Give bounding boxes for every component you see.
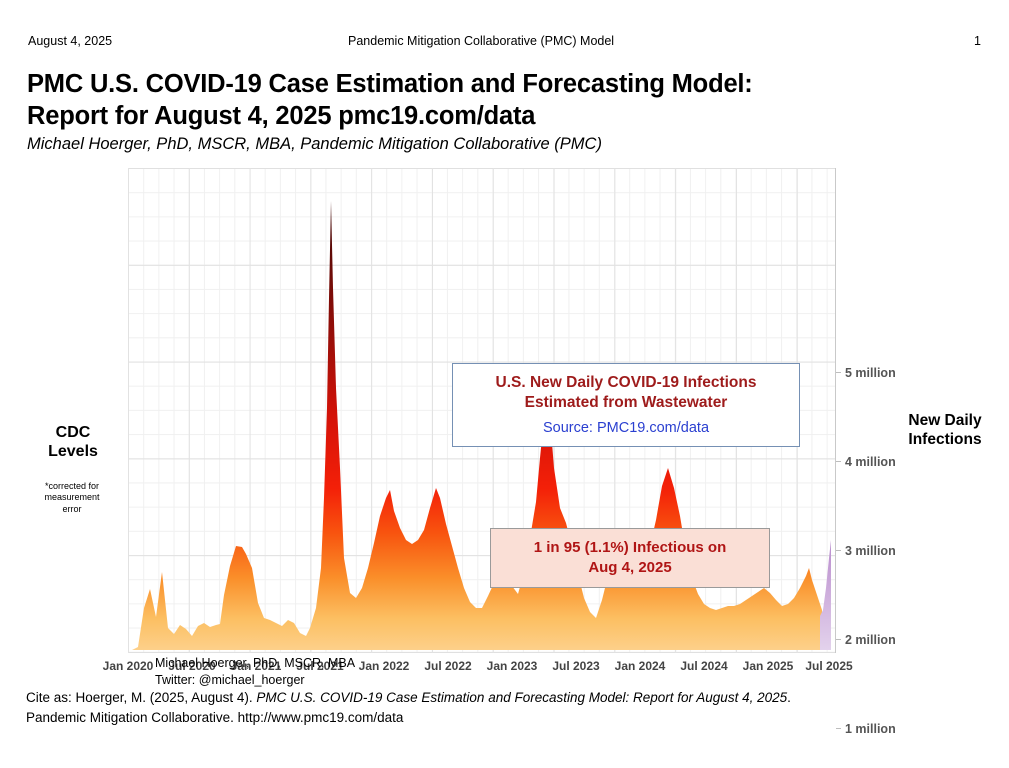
y-axis-left-note-line-2: measurement [44, 492, 99, 502]
chart-source-link[interactable]: Source: PMC19.com/data [459, 420, 793, 436]
y-axis-left-title: CDC Levels [24, 424, 122, 462]
y-tick-mark [836, 728, 841, 729]
header-title: Pandemic Mitigation Collaborative (PMC) … [348, 34, 614, 48]
y-axis-left-title-line-1: CDC [56, 424, 91, 441]
y-tick-mark [836, 639, 841, 640]
x-axis-tick-9: Jan 2024 [615, 659, 666, 673]
chart-figure: 35.6 28.5 21.4 14.2 7.1 5 million 4 mill… [0, 168, 1009, 680]
header-page-number: 1 [974, 34, 981, 48]
citation-block: Cite as: Hoerger, M. (2025, August 4). P… [26, 688, 986, 727]
chart-title-text: U.S. New Daily COVID-19 Infections Estim… [459, 373, 793, 413]
header-date: August 4, 2025 [28, 34, 112, 48]
infectious-stat-callout: 1 in 95 (1.1%) Infectious on Aug 4, 2025 [490, 528, 770, 588]
y-axis-right-tick-5: 5 million [845, 366, 896, 380]
citation-work-title: PMC U.S. COVID-19 Case Estimation and Fo… [256, 690, 787, 705]
y-axis-right-tick-4: 4 million [845, 455, 896, 469]
y-tick-mark [836, 550, 841, 551]
y-axis-left-note-line-1: *corrected for [45, 481, 99, 491]
chart-title-callout: U.S. New Daily COVID-19 Infections Estim… [452, 363, 800, 447]
chart-author-name: Michael Hoerger, PhD, MSCR, MBA [155, 656, 355, 670]
infectious-stat-line-1: 1 in 95 (1.1%) Infectious on [534, 539, 727, 556]
y-axis-left-title-line-2: Levels [48, 443, 98, 460]
x-axis-tick-12: Jul 2025 [805, 659, 852, 673]
chart-title-line-2: Estimated from Wastewater [525, 394, 728, 411]
forecast-area-path [820, 540, 831, 650]
y-axis-right-title-line-1: New Daily [908, 412, 981, 429]
y-tick-mark [836, 461, 841, 462]
page-title-line-2: Report for August 4, 2025 pmc19.com/data [27, 102, 535, 130]
citation-prefix: Cite as: Hoerger, M. (2025, August 4). [26, 690, 256, 705]
y-axis-left-note-line-3: error [62, 504, 81, 514]
chart-author-twitter: Twitter: @michael_hoerger [155, 673, 305, 687]
title-block: PMC U.S. COVID-19 Case Estimation and Fo… [27, 68, 977, 154]
y-axis-right-title: New Daily Infections [890, 412, 1000, 449]
document-header: August 4, 2025 Pandemic Mitigation Colla… [28, 34, 981, 52]
x-axis-tick-8: Jul 2023 [552, 659, 599, 673]
x-axis-tick-1: Jan 2020 [103, 659, 154, 673]
y-axis-left-note: *corrected for measurement error [22, 481, 122, 515]
y-axis-right-tick-2: 2 million [845, 633, 896, 647]
y-axis-right-title-line-2: Infections [908, 431, 981, 448]
y-tick-mark [836, 372, 841, 373]
chart-title-line-1: U.S. New Daily COVID-19 Infections [496, 374, 757, 391]
y-axis-right-tick-3: 3 million [845, 544, 896, 558]
x-axis-tick-7: Jan 2023 [487, 659, 538, 673]
chart-author-credit: Michael Hoerger, PhD, MSCR, MBA Twitter:… [155, 655, 355, 689]
x-axis-tick-11: Jan 2025 [743, 659, 794, 673]
x-axis-tick-10: Jul 2024 [680, 659, 727, 673]
infectious-stat-line-2: Aug 4, 2025 [588, 559, 671, 576]
page-subtitle: Michael Hoerger, PhD, MSCR, MBA, Pandemi… [27, 135, 977, 154]
x-axis-tick-5: Jan 2022 [359, 659, 410, 673]
citation-suffix: . [787, 690, 791, 705]
x-axis-tick-6: Jul 2022 [424, 659, 471, 673]
page-title: PMC U.S. COVID-19 Case Estimation and Fo… [27, 68, 977, 132]
citation-publisher-url: Pandemic Mitigation Collaborative. http:… [26, 710, 403, 725]
page-title-line-1: PMC U.S. COVID-19 Case Estimation and Fo… [27, 70, 753, 98]
y-axis-right-line [835, 168, 836, 653]
